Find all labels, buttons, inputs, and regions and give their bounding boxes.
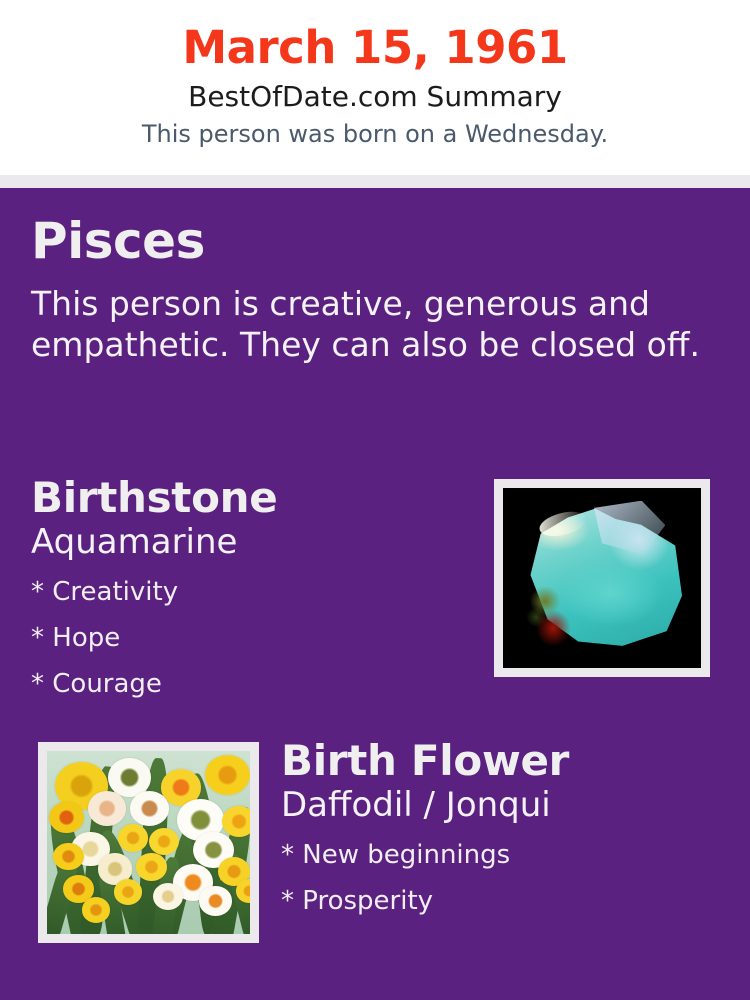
list-item: * Creativity <box>31 569 471 615</box>
page-title-date: March 15, 1961 <box>0 22 750 74</box>
birthstone-image <box>503 488 701 668</box>
birthstone-name: Aquamarine <box>31 521 471 563</box>
zodiac-sign-title: Pisces <box>31 212 205 270</box>
site-name-subtitle: BestOfDate.com Summary <box>0 78 750 116</box>
summary-panel: Pisces This person is creative, generous… <box>0 188 750 1000</box>
daffodil-bloom <box>130 791 169 826</box>
list-item: * New beginnings <box>281 832 711 878</box>
zodiac-description: This person is creative, generous and em… <box>31 283 709 365</box>
list-item: * Courage <box>31 661 471 707</box>
crystal-inclusion <box>523 582 578 647</box>
daffodil-bloom <box>136 853 166 880</box>
daffodil-bloom <box>199 886 231 915</box>
born-day-note: This person was born on a Wednesday. <box>0 118 750 150</box>
list-item: * Hope <box>31 615 471 661</box>
birthstone-trait-list: * Creativity * Hope * Courage <box>31 569 471 707</box>
daffodil-bloom <box>222 806 250 837</box>
daffodil-bloom <box>114 879 142 905</box>
birth-flower-section: Birth Flower Daffodil / Jonqui * New beg… <box>281 736 711 924</box>
birth-flower-image-frame <box>38 742 259 943</box>
daffodil-bloom <box>53 843 83 870</box>
daffodil-bloom <box>205 755 250 795</box>
daffodil-bloom <box>118 824 148 851</box>
daffodil-bloom <box>49 802 84 833</box>
header-divider <box>0 175 750 188</box>
birth-flower-name: Daffodil / Jonqui <box>281 784 711 826</box>
birth-flower-trait-list: * New beginnings * Prosperity <box>281 832 711 924</box>
birthstone-image-frame <box>494 479 710 677</box>
list-item: * Prosperity <box>281 878 711 924</box>
daffodil-bloom <box>149 828 179 855</box>
page-header: March 15, 1961 BestOfDate.com Summary Th… <box>0 0 750 175</box>
daffodil-bloom <box>82 897 110 923</box>
birthstone-heading: Birthstone <box>31 473 471 523</box>
daffodil-bloom <box>88 791 127 826</box>
birthstone-section: Birthstone Aquamarine * Creativity * Hop… <box>31 473 471 707</box>
birth-flower-image <box>47 751 250 934</box>
daffodil-bloom <box>153 883 183 910</box>
birth-flower-heading: Birth Flower <box>281 736 711 786</box>
